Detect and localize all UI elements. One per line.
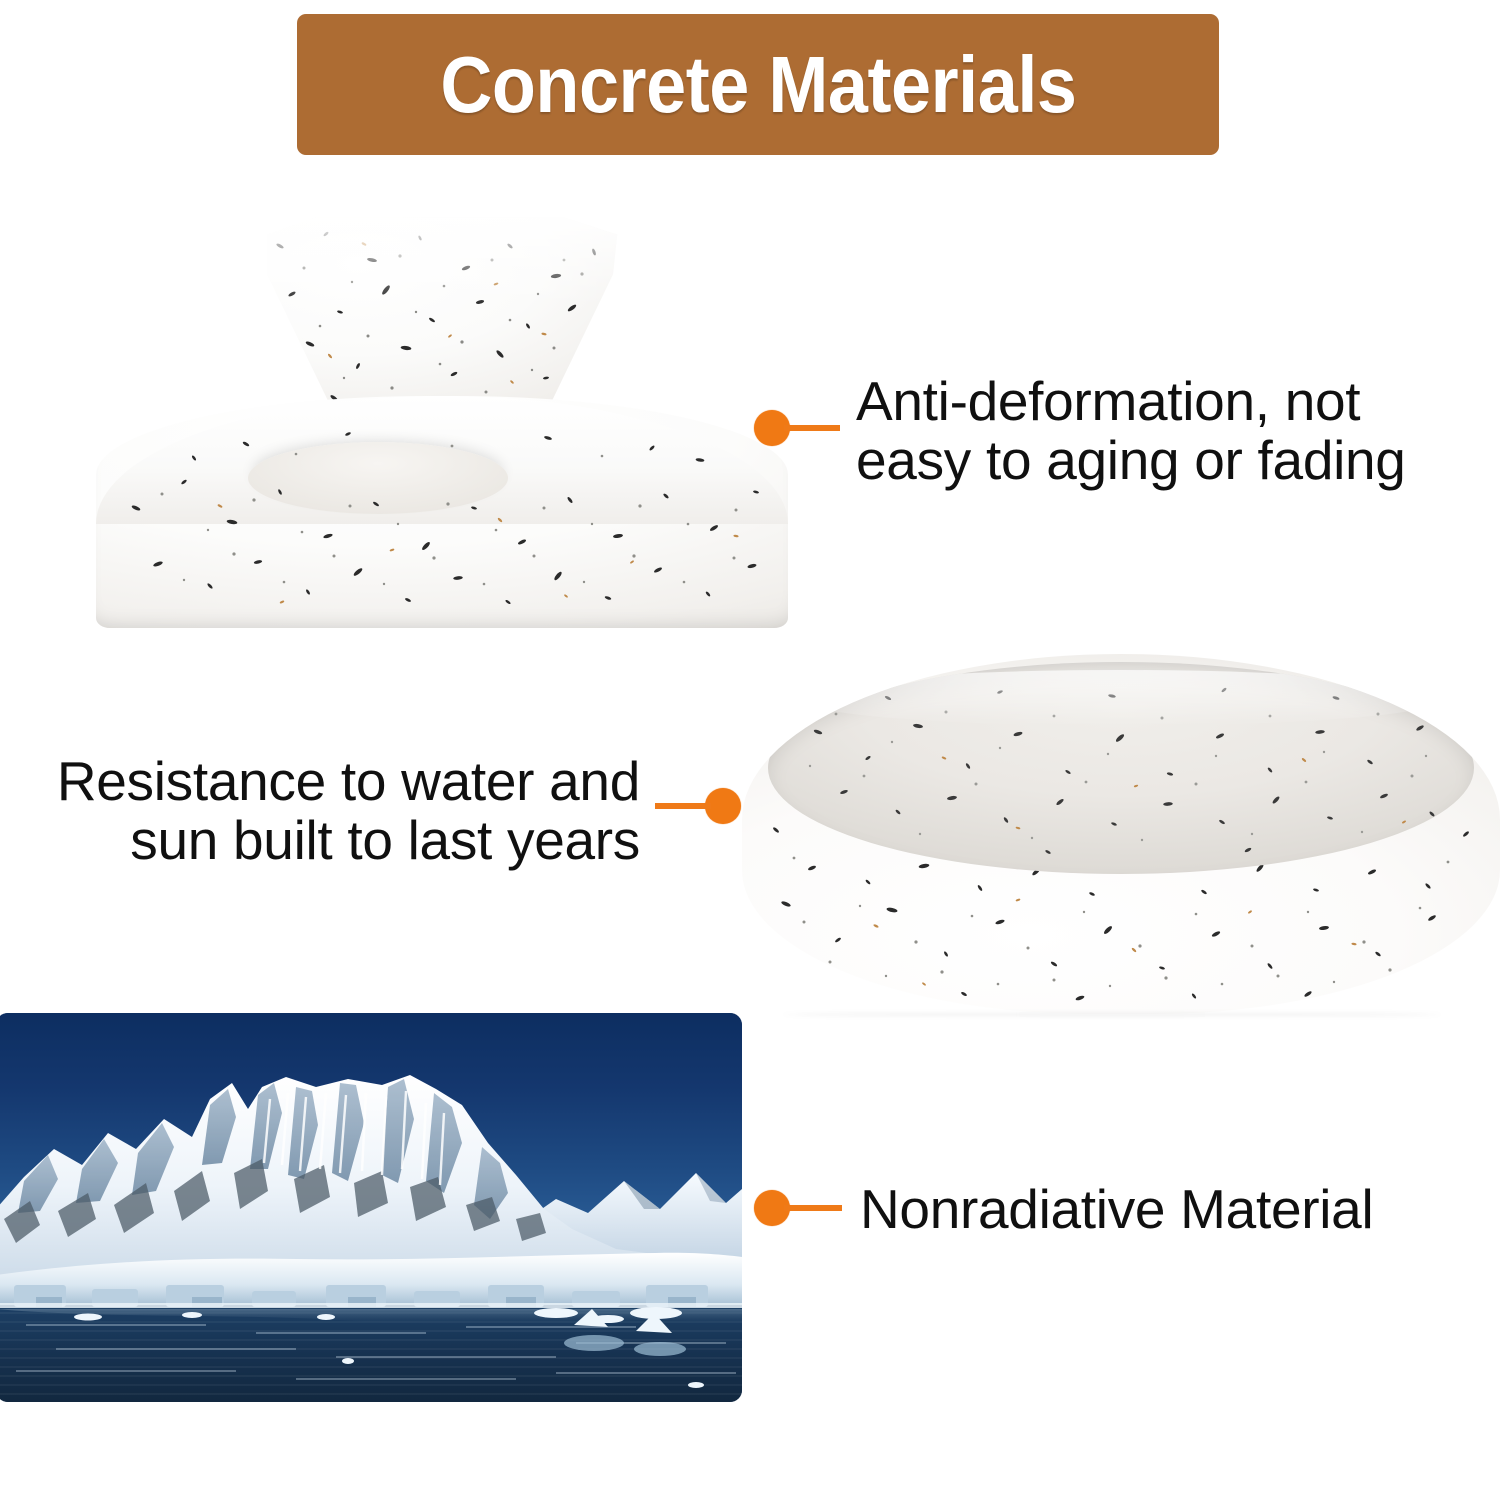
photo-mountain-scene [0, 1013, 742, 1402]
feature-connector-nonradiative [754, 1190, 842, 1226]
product-image-terrazzo-bowl-table [742, 654, 1500, 1014]
bowl-outer-body [742, 654, 1500, 1014]
title-banner: Concrete Materials [297, 14, 1219, 155]
feature-label-nonradiative: Nonradiative Material [860, 1180, 1460, 1239]
feature-label-water-sun-resistance: Resistance to water and sun built to las… [20, 752, 640, 871]
connector-line [784, 1205, 842, 1211]
product-image-pedestal-stool [96, 216, 788, 628]
product-image-antarctic-landscape [0, 1013, 742, 1402]
page-title: Concrete Materials [440, 45, 1076, 125]
connector-line [784, 425, 840, 431]
feature-connector-water-sun-resistance [655, 788, 741, 824]
bowl-ground-shadow [782, 1013, 1442, 1016]
stool-cylindrical-base [96, 396, 788, 628]
stool-base-collar [248, 442, 508, 514]
terrazzo-speckle-texture [768, 662, 1474, 874]
bowl-inner-cavity [768, 662, 1474, 874]
infographic-page: Concrete Materials [0, 0, 1500, 1500]
connector-line [655, 803, 711, 809]
feature-connector-anti-deformation [754, 410, 840, 446]
feature-label-anti-deformation: Anti-deformation, not easy to aging or f… [856, 372, 1456, 491]
